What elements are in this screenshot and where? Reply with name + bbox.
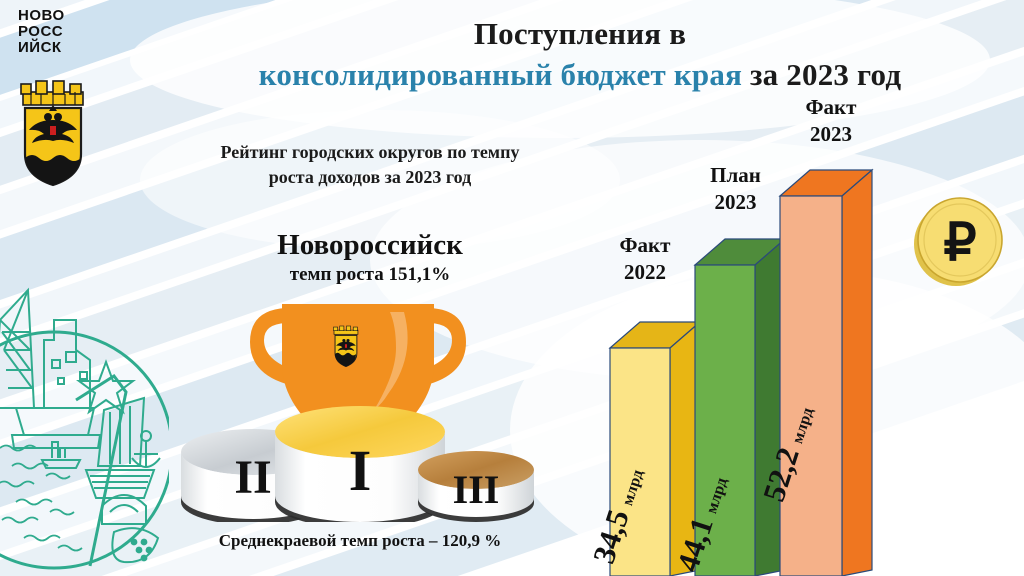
bar-label-fact-2022: Факт 2022 <box>590 232 700 286</box>
title-line-1: Поступления в <box>160 14 1000 54</box>
podium-third-place: III <box>418 451 534 522</box>
bar-label-plan-2023: План 2023 <box>678 162 793 216</box>
title-line-2-tail: за 2023 год <box>742 57 901 92</box>
infographic-poster: НОВО РОСС ИЙСК <box>0 0 1024 576</box>
winner-block: Новороссийск темп роста 151,1% <box>180 228 560 288</box>
title-line-2: консолидированный бюджет края за 2023 го… <box>160 54 1000 96</box>
podium-numeral-second: II <box>234 451 271 504</box>
logo-line-1: НОВО <box>18 8 88 24</box>
winner-city-name: Новороссийск <box>180 228 560 262</box>
trophy-podium-graphic: II I III <box>178 292 538 522</box>
logo-wordmark: НОВО РОСС ИЙСК <box>18 8 88 56</box>
bar-chart: Факт 2022 План 2023 Факт 2023 34,5 млрд … <box>596 100 916 576</box>
bar-label-fact-2023: Факт 2023 <box>772 94 890 148</box>
subtitle: Рейтинг городских округов по темпу роста… <box>150 140 590 190</box>
logo-line-2: РОСС <box>18 24 88 40</box>
logo-line-3: ИЙСК <box>18 40 88 56</box>
coat-of-arms-icon <box>13 80 93 188</box>
page-title: Поступления в консолидированный бюджет к… <box>160 14 1000 96</box>
bar-fact-2023 <box>780 170 872 576</box>
city-lineart-illustration <box>0 280 169 576</box>
title-highlight: консолидированный бюджет края <box>259 57 742 92</box>
average-growth-note: Среднекраевой темп роста – 120,9 % <box>150 531 570 551</box>
ruble-coin-icon: ₽ <box>908 192 1008 292</box>
winner-growth-rate: темп роста 151,1% <box>180 262 560 288</box>
subtitle-line-2: роста доходов за 2023 год <box>150 165 590 190</box>
ruble-symbol: ₽ <box>943 215 976 272</box>
podium-numeral-third: III <box>453 467 500 512</box>
podium-numeral-first: I <box>349 438 372 503</box>
subtitle-line-1: Рейтинг городских округов по темпу <box>150 140 590 165</box>
